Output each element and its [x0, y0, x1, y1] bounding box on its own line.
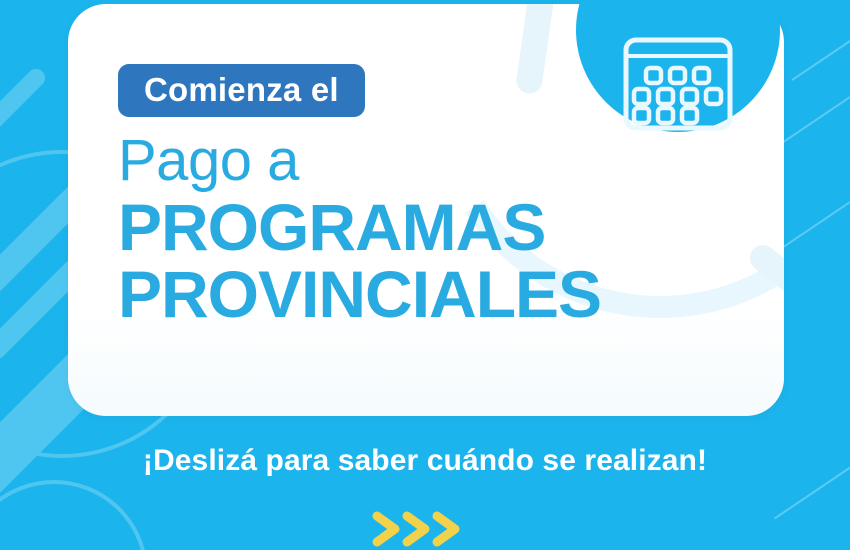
triple-chevron-right-icon[interactable]	[0, 508, 850, 550]
status-badge: Comienza el	[118, 64, 365, 117]
footer-caption: ¡Deslizá para saber cuándo se realizan!	[0, 444, 850, 478]
deco-hairline-right-1	[791, 1, 850, 81]
headline-line-3: PROVINCIALES	[118, 259, 601, 330]
deco-blob-2	[745, 240, 784, 328]
calendar-icon	[622, 36, 734, 137]
headline-block: Comienza el Pago a PROGRAMAS PROVINCIALE…	[118, 64, 601, 329]
promo-poster: Comienza el Pago a PROGRAMAS PROVINCIALE…	[0, 0, 850, 550]
headline-line-2: PROGRAMAS	[118, 192, 601, 263]
headline-line-1: Pago a	[118, 131, 601, 190]
deco-pill-left-1	[0, 65, 49, 163]
